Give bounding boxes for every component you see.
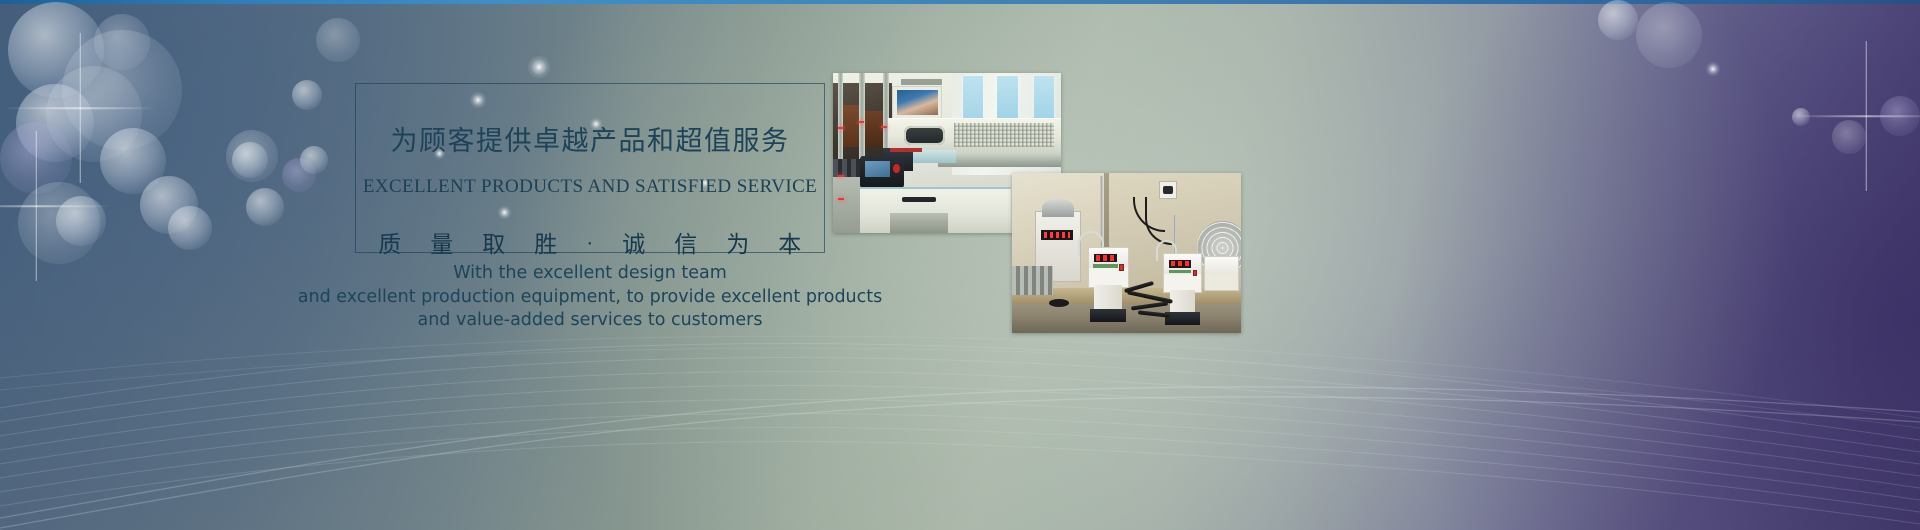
slogan-line: 质量取胜·诚信为本 xyxy=(355,225,825,259)
body-copy-line-1: With the excellent design team xyxy=(275,262,905,286)
slogan-char: 量 xyxy=(416,225,468,259)
body-copy-line-2: and excellent production equipment, to p… xyxy=(275,286,905,310)
slogan-separator: · xyxy=(572,233,608,255)
slogan-char: 为 xyxy=(712,225,764,259)
headline-english: EXCELLENT PRODUCTS AND SATISFIED SERVICE xyxy=(356,176,824,198)
slogan-char: 质 xyxy=(364,225,416,259)
slogan-char: 胜 xyxy=(520,225,572,259)
slogan-char: 取 xyxy=(468,225,520,259)
headline-chinese: 为顾客提供卓越产品和超值服务 xyxy=(356,119,824,158)
photo-press-machines xyxy=(1012,173,1241,333)
slogan-char: 信 xyxy=(660,225,712,259)
company-slogan-banner: 为顾客提供卓越产品和超值服务 EXCELLENT PRODUCTS AND SA… xyxy=(0,0,1920,530)
body-copy-line-3: and value-added services to customers xyxy=(275,309,905,333)
slogan-char: 本 xyxy=(764,225,816,259)
slogan-char: 诚 xyxy=(608,225,660,259)
body-copy: With the excellent design team and excel… xyxy=(275,262,905,333)
